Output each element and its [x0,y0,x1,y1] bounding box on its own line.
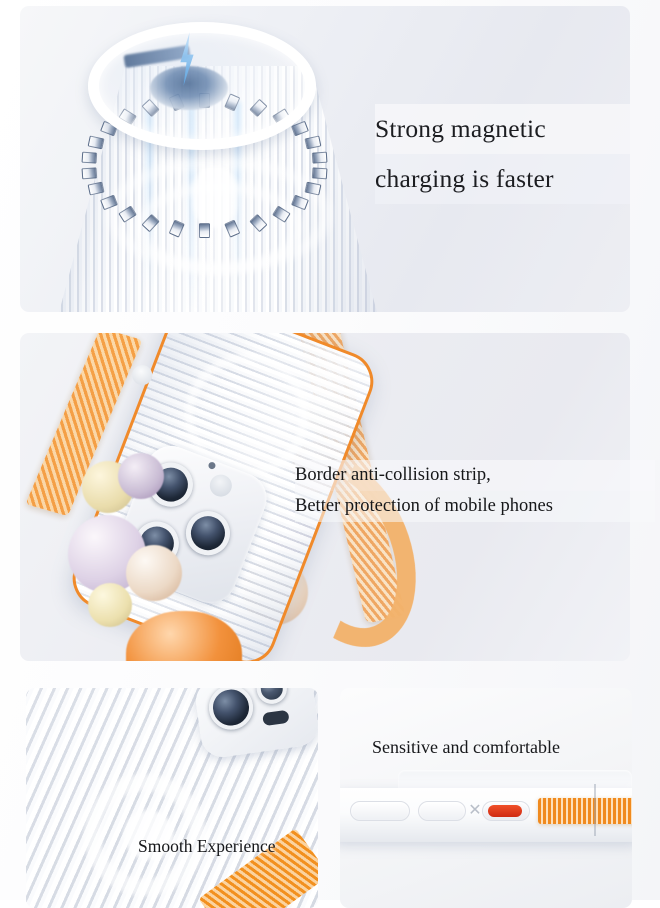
magnet-segment [88,136,105,150]
magnet-segment [88,182,105,196]
flash-icon [207,471,235,499]
caption-line-1: Strong magnetic [375,104,630,154]
decorative-bead [126,545,182,601]
charging-coil-icon [150,66,228,110]
microphone-dot [207,461,216,470]
panel-sensitive-comfortable: ✕ [340,688,632,908]
product-marketing-page: Strong magnetic charging is faster [0,0,660,900]
x-divider-icon: ✕ [468,800,482,822]
grip-seam-line [594,784,596,836]
panel-smooth-experience [26,688,318,908]
magnet-segment [312,152,328,164]
camera-slot [262,710,290,726]
camera-lens-icon [255,688,289,706]
volume-up-button [350,801,410,821]
caption-smooth-experience: Smooth Experience [138,836,276,857]
action-button-red-accent [488,805,522,817]
caption-magnetic-charging: Strong magnetic charging is faster [375,104,630,204]
caption-sensitive-comfortable: Sensitive and comfortable [372,737,560,758]
caption-anti-collision: Border anti-collision strip, Better prot… [295,460,655,522]
volume-down-button [418,801,466,821]
decorative-bead [118,453,164,499]
magnet-segment [81,152,97,164]
magnet-segment [312,167,328,179]
magnet-segment [81,167,97,179]
magnet-segment [199,223,210,238]
caption-line-1: Border anti-collision strip, [295,460,655,491]
panel-magnetic-charging: Strong magnetic charging is faster [20,6,630,312]
magnet-segment [304,182,321,196]
orange-grip-strip [538,798,632,824]
decorative-bead [88,583,132,627]
camera-lens-icon [206,688,256,732]
camera-lens-icon [180,505,237,562]
caption-line-2: charging is faster [375,154,630,204]
caption-line-2: Better protection of mobile phones [295,491,655,522]
